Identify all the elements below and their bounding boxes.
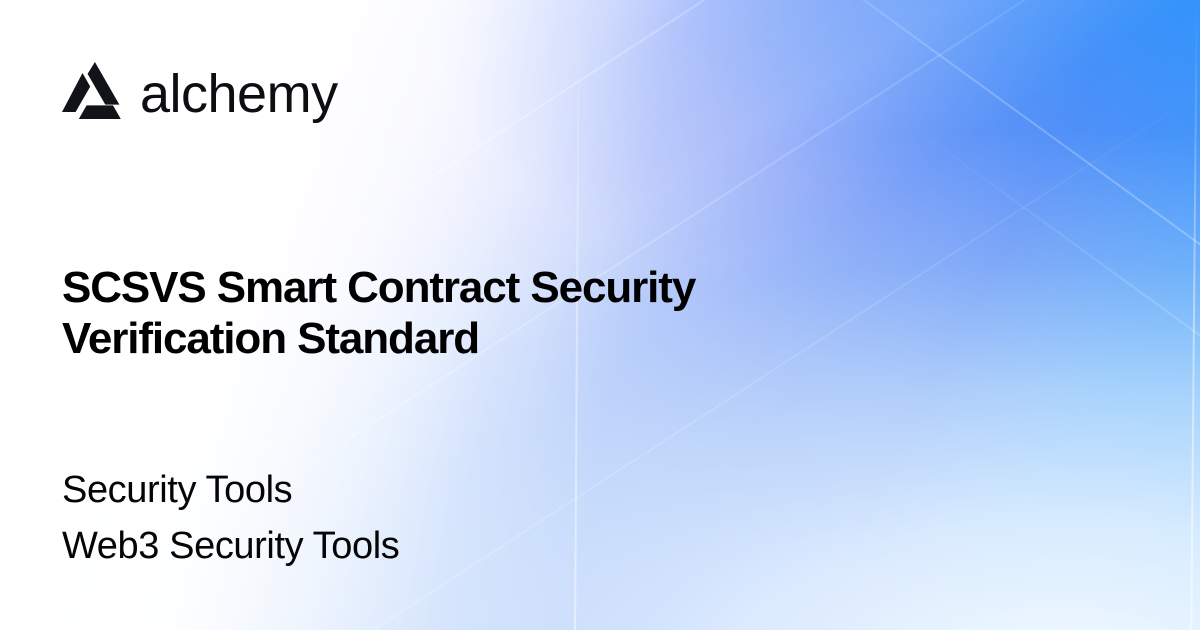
- card-content: alchemy SCSVS Smart Contract Security Ve…: [0, 0, 1200, 630]
- alchemy-wordmark: alchemy: [140, 67, 338, 121]
- breadcrumb-item-subcategory: Web3 Security Tools: [62, 518, 782, 574]
- alchemy-triangle-icon: [62, 62, 124, 125]
- og-card: alchemy SCSVS Smart Contract Security Ve…: [0, 0, 1200, 630]
- page-title: SCSVS Smart Contract Security Verificati…: [62, 262, 822, 364]
- alchemy-logo: alchemy: [62, 62, 338, 125]
- breadcrumb: Security Tools Web3 Security Tools: [62, 462, 782, 574]
- breadcrumb-item-category: Security Tools: [62, 462, 782, 518]
